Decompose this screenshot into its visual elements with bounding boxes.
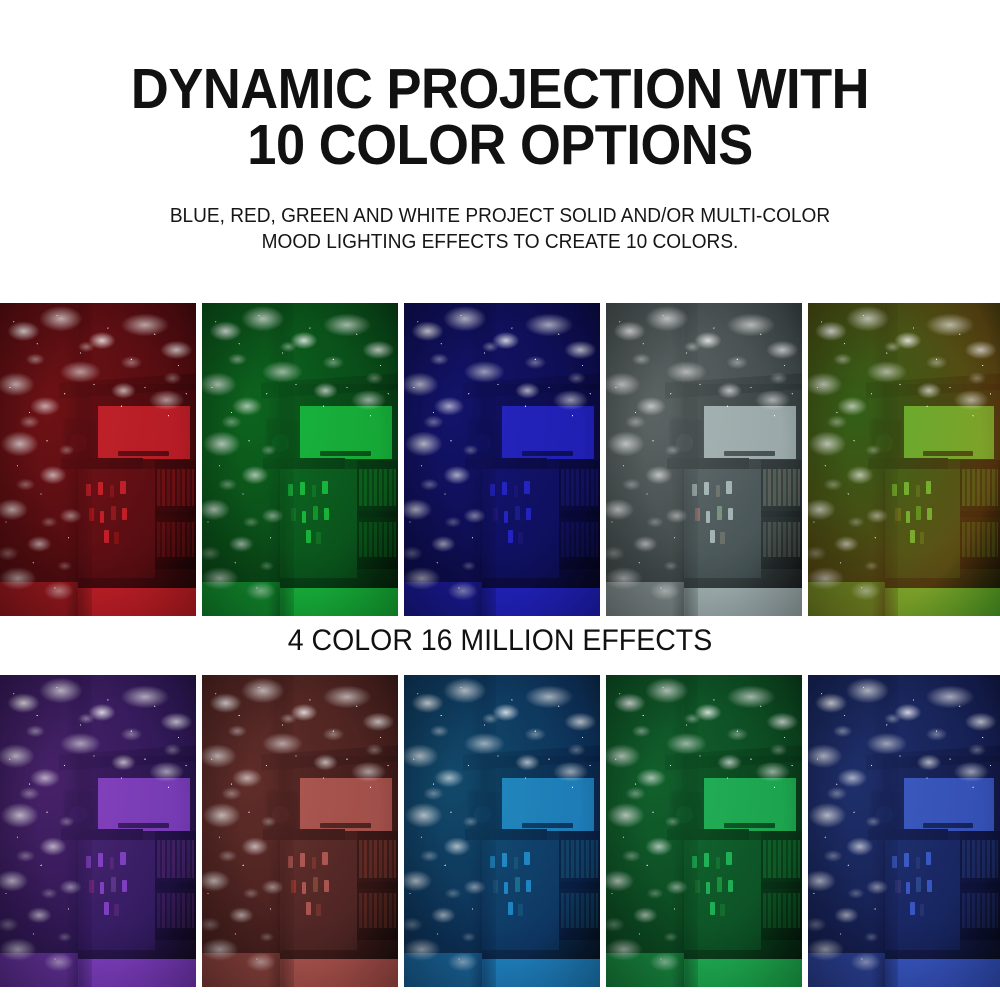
page-subtitle: BLUE, RED, GREEN AND WHITE PROJECT SOLID… (35, 203, 965, 255)
page-subtitle-line1: BLUE, RED, GREEN AND WHITE PROJECT SOLID… (35, 203, 965, 229)
tile-white[interactable] (606, 303, 802, 616)
scene-vignette (404, 675, 600, 987)
scene-vignette (404, 303, 600, 616)
tile-cyan-blue[interactable] (404, 675, 600, 987)
scene-vignette (606, 303, 802, 616)
tile-purple[interactable] (0, 675, 196, 987)
tile-red-white[interactable] (202, 675, 398, 987)
scene-vignette (202, 303, 398, 616)
tile-blue[interactable] (404, 303, 600, 616)
tile-green-2[interactable] (606, 675, 802, 987)
room-scene (808, 303, 1000, 616)
room-scene (0, 675, 196, 987)
tile-green[interactable] (202, 303, 398, 616)
gallery-row-mixed-color-row (0, 675, 1000, 987)
room-scene (808, 675, 1000, 987)
room-scene (404, 303, 600, 616)
room-scene (202, 303, 398, 616)
tile-blue-2[interactable] (808, 675, 1000, 987)
scene-vignette (202, 675, 398, 987)
room-scene (606, 675, 802, 987)
page-subtitle-line2: MOOD LIGHTING EFFECTS TO CREATE 10 COLOR… (35, 229, 965, 255)
scene-vignette (0, 303, 196, 616)
scene-vignette (606, 675, 802, 987)
gallery-row-solid-color-row (0, 303, 1000, 616)
room-scene (202, 675, 398, 987)
page-title-line1: DYNAMIC PROJECTION WITH (40, 62, 960, 118)
room-scene (404, 675, 600, 987)
tile-green-orange[interactable] (808, 303, 1000, 616)
product-feature-page: DYNAMIC PROJECTION WITH 10 COLOR OPTIONS… (0, 0, 1000, 1000)
page-title-line2: 10 COLOR OPTIONS (40, 118, 960, 174)
scene-vignette (0, 675, 196, 987)
room-scene (606, 303, 802, 616)
scene-vignette (808, 303, 1000, 616)
gallery-caption: 4 COLOR 16 MILLION EFFECTS (25, 624, 975, 658)
scene-vignette (808, 675, 1000, 987)
room-scene (0, 303, 196, 616)
tile-red[interactable] (0, 303, 196, 616)
